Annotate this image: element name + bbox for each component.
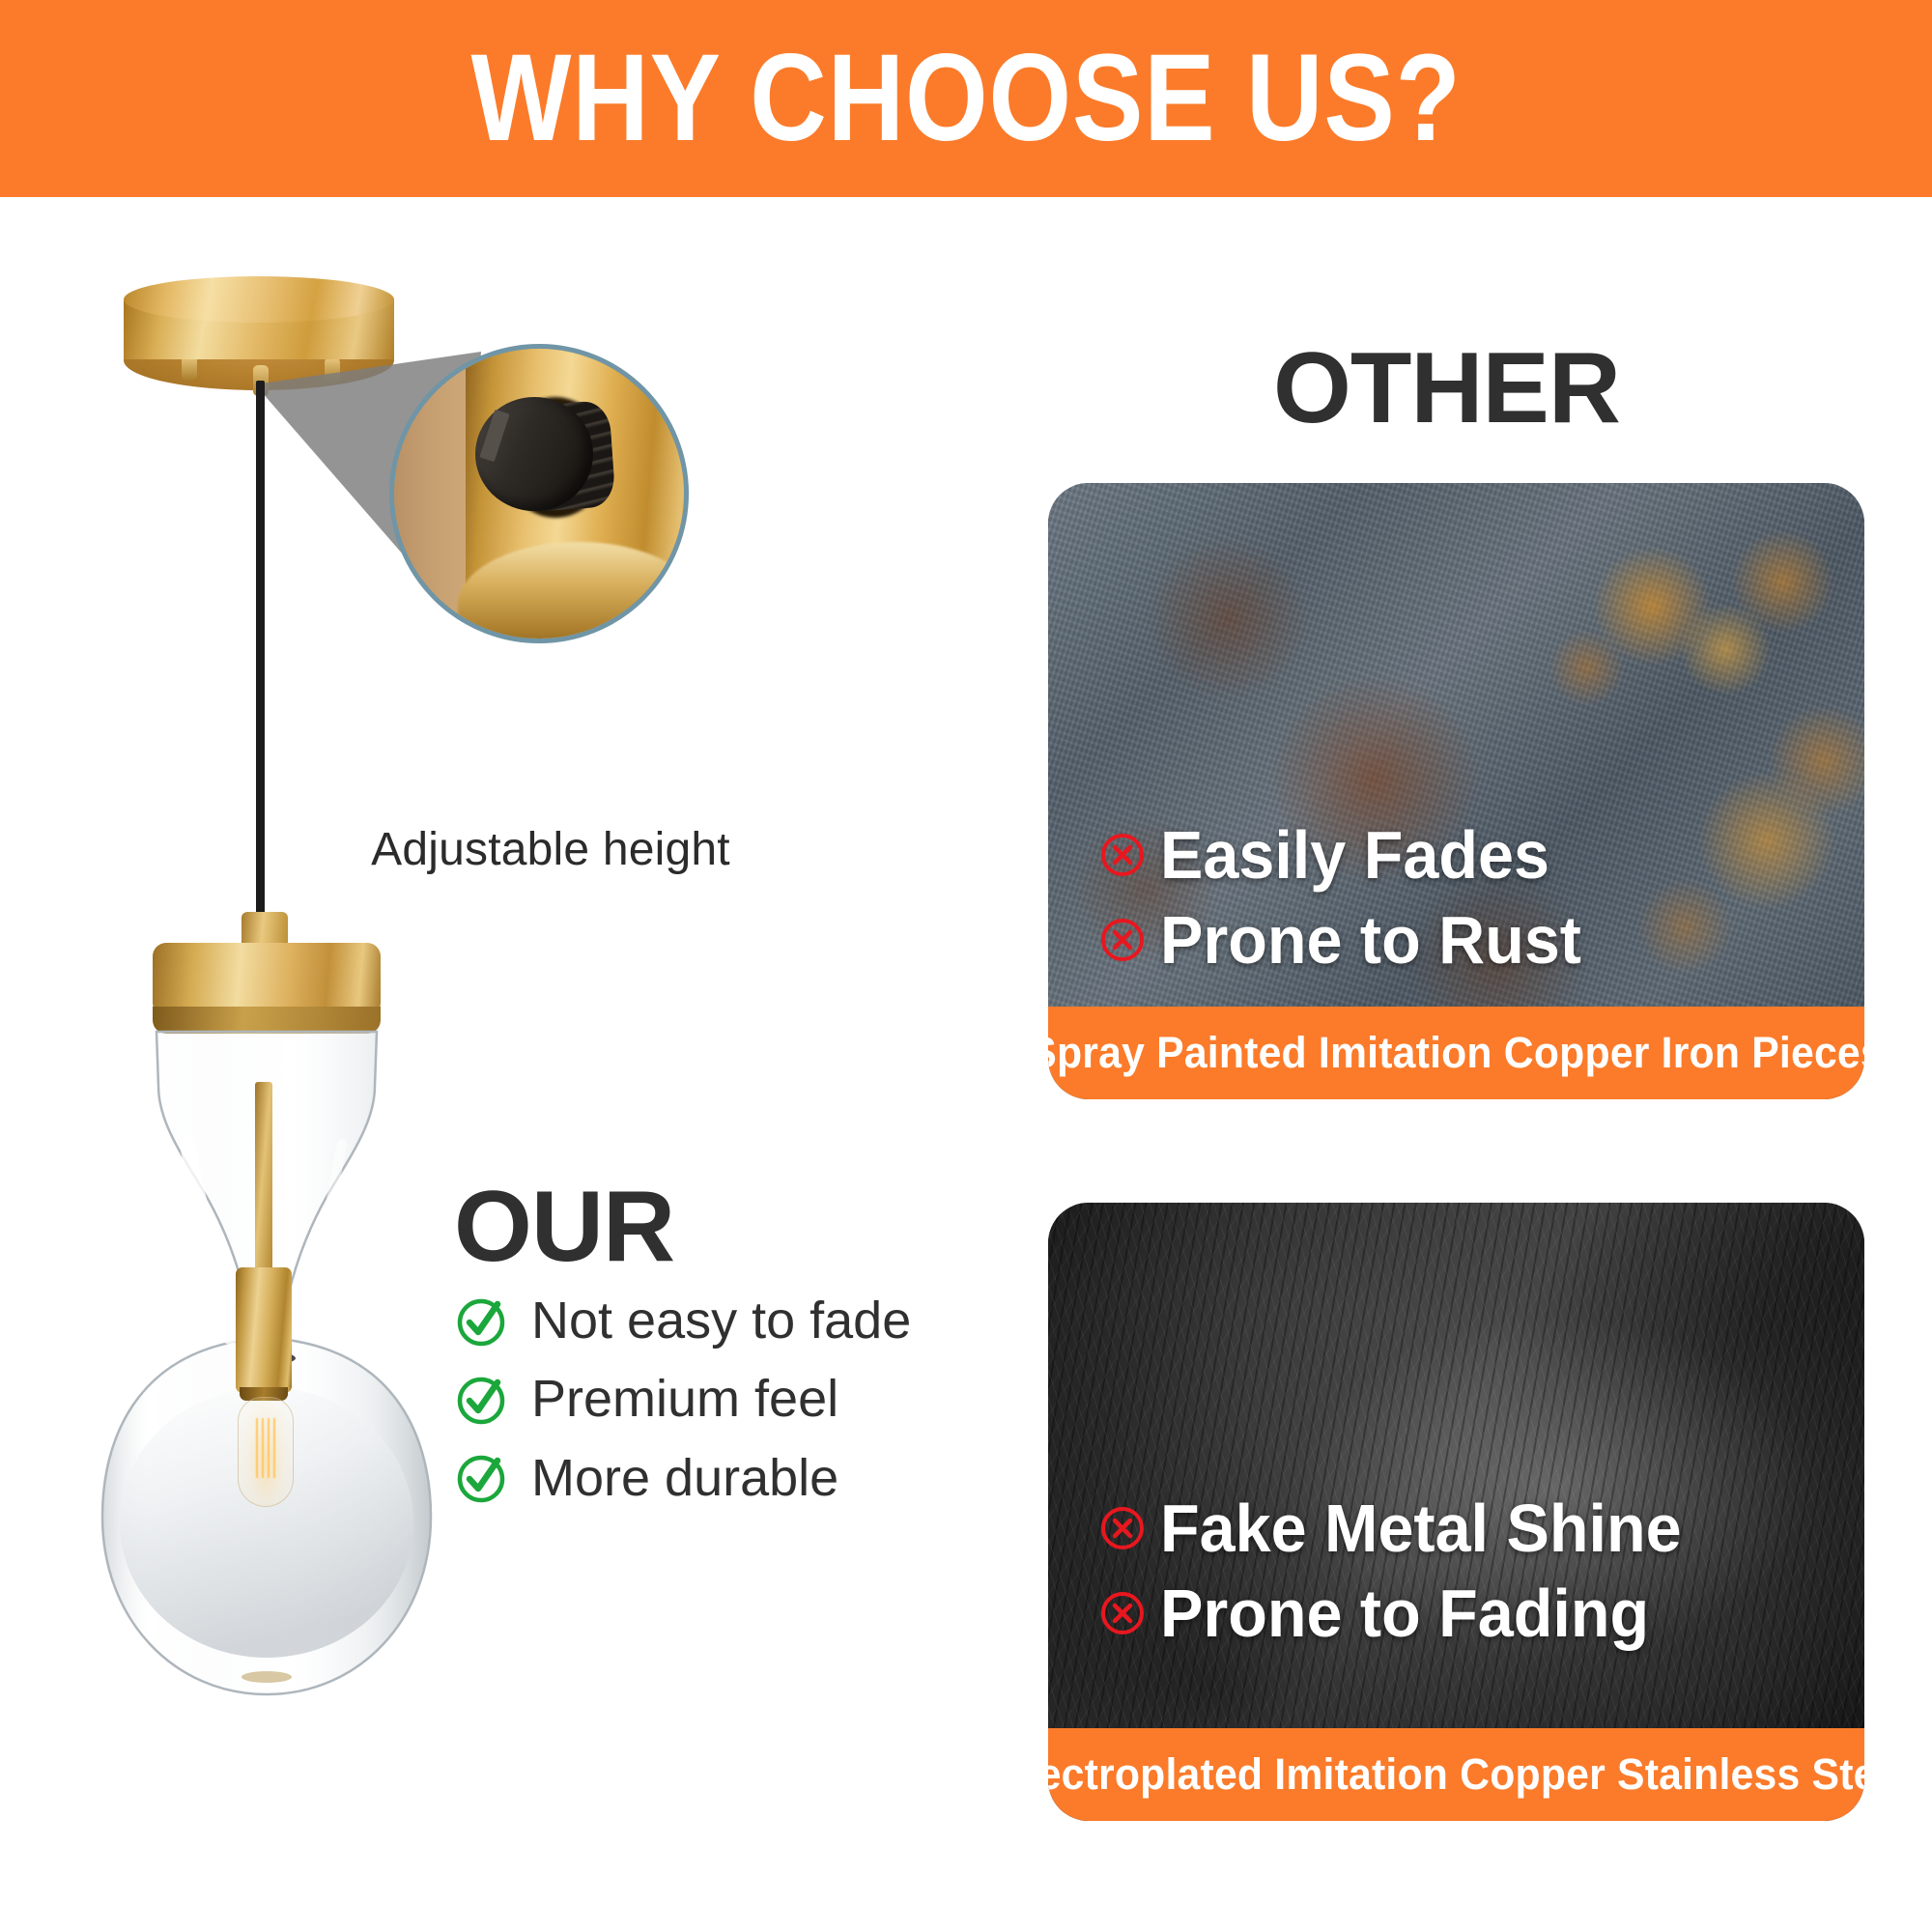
page-title: WHY CHOOSE US? <box>470 37 1461 160</box>
card-caption-bar: Spray Painted Imitation Copper Iron Piec… <box>1048 1007 1864 1099</box>
screw-detail-magnifier <box>389 344 689 643</box>
adjustable-height-label: Adjustable height <box>280 823 821 876</box>
pendant-lamp <box>95 912 442 1723</box>
benefit-label: Premium feel <box>531 1371 838 1428</box>
list-item: Fake Metal Shine <box>1098 1492 1826 1564</box>
card-bullet-list: Fake Metal Shine Prone to Fading <box>1098 1492 1826 1662</box>
pendant-brass-cap <box>153 943 381 1016</box>
list-item: Easily Fades <box>1098 819 1826 891</box>
check-circle-icon <box>454 1294 508 1349</box>
benefit-label: More durable <box>531 1450 838 1507</box>
comparison-card-steel: Fake Metal Shine Prone to Fading Electro… <box>1048 1203 1864 1821</box>
bullet-label: Easily Fades <box>1160 819 1549 891</box>
hanging-cord <box>256 381 265 936</box>
check-circle-icon <box>454 1373 508 1427</box>
pendant-brass-rod <box>255 1082 272 1285</box>
x-circle-icon <box>1098 831 1147 879</box>
list-item: Prone to Rust <box>1098 904 1826 976</box>
list-item: Prone to Fading <box>1098 1577 1826 1649</box>
other-section-heading: OTHER <box>1273 338 1620 439</box>
card-bullet-list: Easily Fades Prone to Rust <box>1098 819 1826 989</box>
bullet-label: Prone to Fading <box>1160 1577 1649 1649</box>
card-caption-text: Spray Painted Imitation Copper Iron Piec… <box>1048 1028 1864 1078</box>
list-item: Not easy to fade <box>454 1293 956 1350</box>
bulb-filament <box>256 1418 275 1478</box>
product-image-stage: Adjustable height <box>0 197 1014 1932</box>
list-item: Premium feel <box>454 1371 956 1428</box>
header-banner: WHY CHOOSE US? <box>0 0 1932 197</box>
list-item: More durable <box>454 1450 956 1507</box>
our-section-heading: OUR <box>454 1177 674 1277</box>
benefit-label: Not easy to fade <box>531 1293 911 1350</box>
x-circle-icon <box>1098 916 1147 964</box>
bullet-label: Prone to Rust <box>1160 904 1581 976</box>
bullet-label: Fake Metal Shine <box>1160 1492 1682 1564</box>
x-circle-icon <box>1098 1589 1147 1637</box>
canopy-top-disc <box>124 276 394 323</box>
card-caption-bar: Electroplated Imitation Copper Stainless… <box>1048 1728 1864 1821</box>
check-circle-icon <box>454 1451 508 1505</box>
pendant-socket-collar <box>236 1267 292 1393</box>
our-benefit-list: Not easy to fade Premium feel More durab… <box>454 1293 956 1528</box>
x-circle-icon <box>1098 1504 1147 1552</box>
comparison-card-rust: Easily Fades Prone to Rust Spray Painted… <box>1048 483 1864 1099</box>
card-caption-text: Electroplated Imitation Copper Stainless… <box>1048 1749 1864 1800</box>
